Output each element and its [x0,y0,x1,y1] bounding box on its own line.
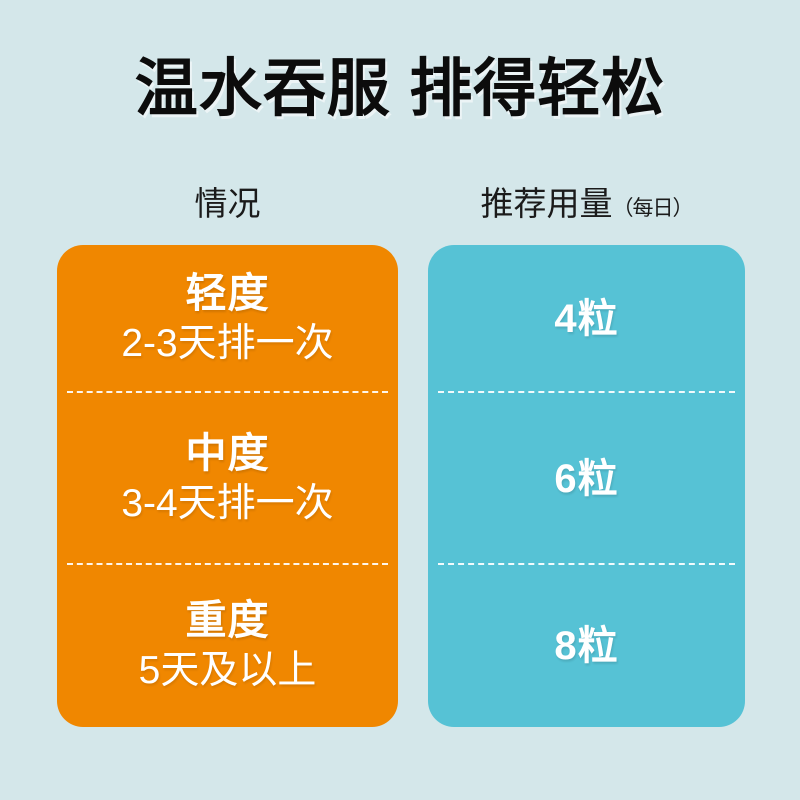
condition-cell-moderate: 中度 3-4天排一次 [57,393,398,565]
dosage-cell-moderate: 6粒 [428,393,745,565]
dosage-cell-mild: 4粒 [428,245,745,393]
condition-level-moderate: 中度 [186,431,270,477]
condition-panel: 轻度 2-3天排一次 中度 3-4天排一次 重度 5天及以上 [57,245,398,727]
condition-level-mild: 轻度 [186,271,270,317]
column-header-condition-label: 情况 [195,185,261,222]
infographic-page: 温水吞服 排得轻松 情况 推荐用量（每日） 轻度 2-3天排一次 中度 3-4天… [0,0,800,800]
condition-cell-mild: 轻度 2-3天排一次 [57,245,398,393]
dosage-value-moderate: 6粒 [554,456,618,502]
condition-cell-severe: 重度 5天及以上 [57,565,398,727]
dosage-value-mild: 4粒 [554,296,618,342]
column-header-dosage-label: 推荐用量 [481,185,613,222]
column-header-condition: 情况 [57,183,398,224]
condition-frequency-moderate: 3-4天排一次 [121,481,333,528]
column-header-dosage: 推荐用量（每日） [428,183,745,224]
condition-frequency-severe: 5天及以上 [139,648,317,695]
dosage-cell-severe: 8粒 [428,565,745,727]
condition-frequency-mild: 2-3天排一次 [121,321,333,368]
page-title: 温水吞服 排得轻松 [0,52,800,126]
dosage-value-severe: 8粒 [554,623,618,669]
condition-level-severe: 重度 [186,598,270,644]
column-header-dosage-sublabel: （每日） [613,197,693,220]
dosage-panel: 4粒 6粒 8粒 [428,245,745,727]
